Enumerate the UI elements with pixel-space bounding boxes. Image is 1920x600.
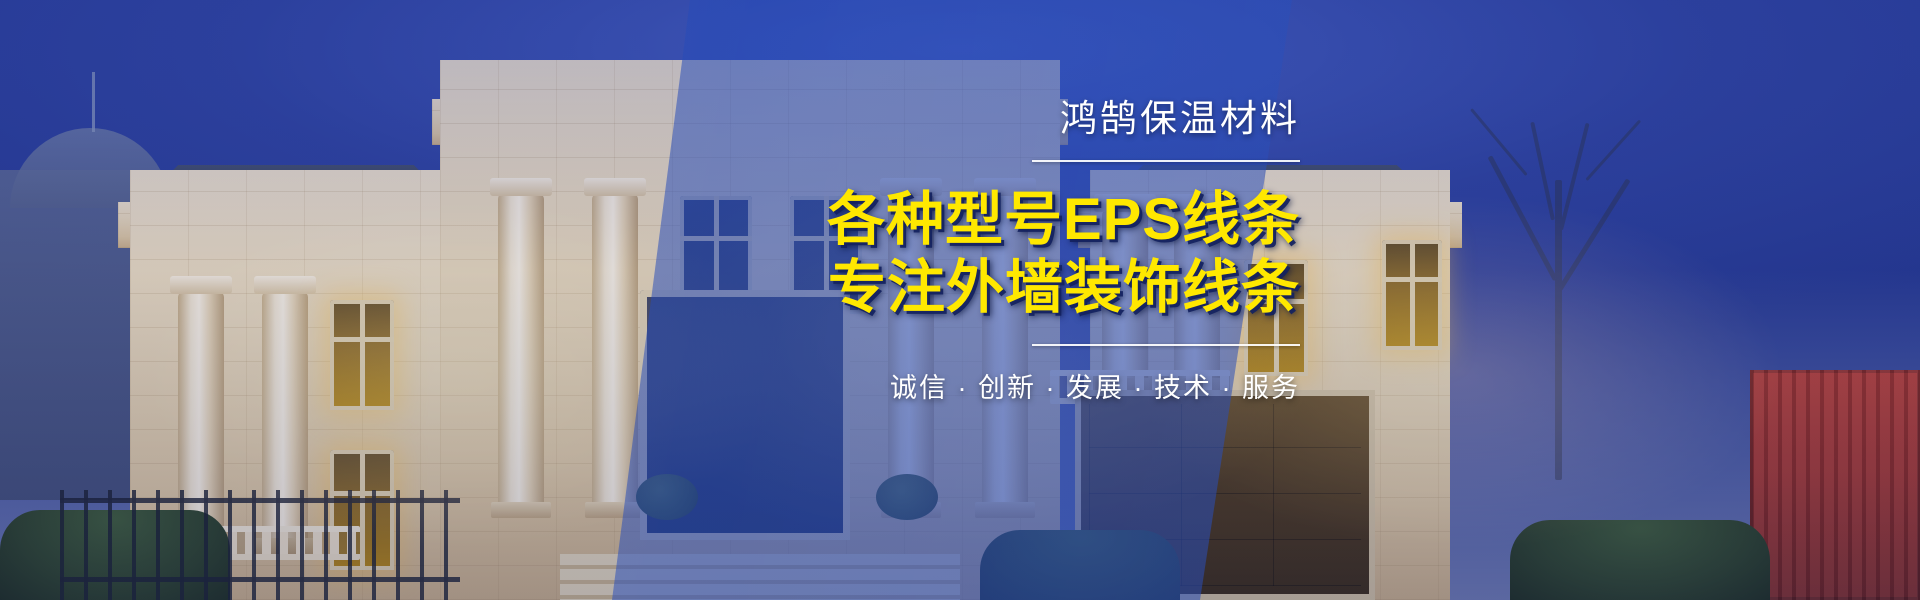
headline-group: 各种型号EPS线条 专注外墙装饰线条: [690, 186, 1300, 322]
brand-name: 鸿鹄保温材料: [690, 96, 1300, 142]
column-c2: [592, 194, 638, 504]
banner-text-block: 鸿鹄保温材料 各种型号EPS线条 专注外墙装饰线条 诚信 · 创新 · 发展 ·…: [690, 96, 1310, 405]
entry-steps: [560, 554, 960, 600]
divider-top: [1032, 160, 1300, 162]
column-c1: [498, 194, 544, 504]
hedge-center-right: [980, 530, 1180, 600]
iron-fence: [60, 490, 460, 600]
tagline: 诚信 · 创新 · 发展 · 技术 · 服务: [690, 366, 1300, 405]
hedge-right: [1510, 520, 1770, 600]
headline-line-1: 各种型号EPS线条: [690, 186, 1300, 254]
promo-banner: 鸿鹄保温材料 各种型号EPS线条 专注外墙装饰线条 诚信 · 创新 · 发展 ·…: [0, 0, 1920, 600]
shrub-left: [636, 474, 698, 520]
shrub-right: [876, 474, 938, 520]
divider-bottom: [1032, 344, 1300, 346]
window-r-far: [1382, 240, 1442, 350]
window-l-upper: [330, 300, 394, 410]
headline-line-2: 专注外墙装饰线条: [690, 254, 1300, 322]
